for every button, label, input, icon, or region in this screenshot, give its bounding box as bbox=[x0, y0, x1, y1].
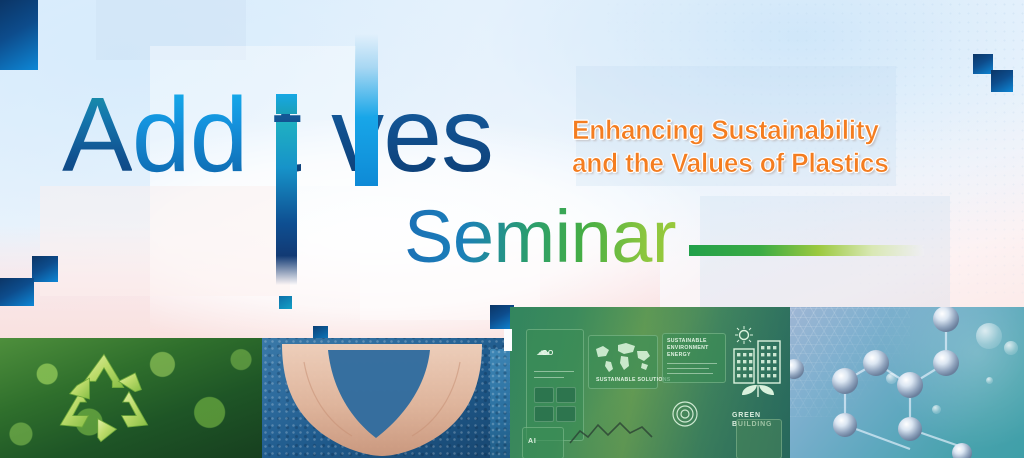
tech-label-ai: AI bbox=[528, 437, 537, 446]
photo-green-tech-infographic: ☁ CO SUSTAINABLE SOLUTIONS SUSTAINABLE E… bbox=[510, 307, 790, 458]
deco-square-left-lower bbox=[0, 278, 34, 306]
banner-tagline: Enhancing Sustainability and the Values … bbox=[572, 114, 972, 181]
recycling-symbol-icon bbox=[52, 350, 156, 448]
tagline-line-1: Enhancing Sustainability bbox=[572, 114, 972, 147]
bokeh-light-4 bbox=[932, 405, 941, 414]
tech-chip-globe bbox=[534, 406, 554, 422]
seminar-underline-bar bbox=[689, 245, 924, 256]
deco-square-top-left bbox=[0, 0, 38, 70]
bokeh-light-2 bbox=[1004, 341, 1018, 355]
deco-square-tiny-teal bbox=[279, 296, 292, 309]
photo-hands-pellets bbox=[262, 338, 510, 458]
tech-line-2 bbox=[534, 377, 564, 378]
hands-holding-pellets-illustration bbox=[276, 344, 488, 458]
bokeh-light-1 bbox=[976, 323, 1002, 349]
leaf-shapes bbox=[742, 385, 774, 397]
photo-molecular-structure bbox=[790, 307, 1024, 458]
tech-chip-leaf bbox=[534, 387, 554, 403]
tech-line-5 bbox=[667, 373, 713, 374]
tech-label-sustainable-energy: SUSTAINABLE ENVIRONMENT ENERGY bbox=[667, 338, 709, 359]
deco-square-left-upper bbox=[32, 256, 58, 282]
tech-card-device bbox=[736, 419, 782, 458]
banner-subtitle-seminar: Seminar bbox=[404, 200, 676, 274]
title-i-dot-glyph bbox=[276, 94, 297, 114]
title-letter-a: A bbox=[62, 76, 132, 194]
photo-divider-nick bbox=[504, 329, 512, 351]
green-building-icon bbox=[726, 325, 790, 407]
title-letter-dd: dd bbox=[132, 76, 248, 194]
tech-line-4 bbox=[667, 368, 709, 369]
tech-chip-drop bbox=[556, 387, 576, 403]
tagline-line-2: and the Values of Plastics bbox=[572, 147, 972, 180]
tech-label-co2: CO bbox=[542, 349, 554, 358]
photo-sliver-pellets bbox=[490, 349, 512, 458]
tech-line-1 bbox=[534, 371, 574, 372]
bokeh-light-3 bbox=[886, 373, 897, 384]
title-i-stem-glyph bbox=[276, 122, 297, 285]
additives-seminar-banner: Addtves Seminar Enhancing Sustainability… bbox=[0, 0, 1024, 458]
deco-square-top-right-b bbox=[991, 70, 1013, 92]
tech-label-map-caption: SUSTAINABLE SOLUTIONS bbox=[596, 377, 671, 384]
deco-square-top-right-a bbox=[973, 54, 993, 74]
photo-recycling-leaves bbox=[0, 338, 262, 458]
deco-panel-5 bbox=[700, 196, 950, 316]
title-i-bar-glyph bbox=[355, 34, 378, 186]
bokeh-light-5 bbox=[986, 377, 993, 384]
line-chart-graphic bbox=[568, 419, 654, 449]
world-map-icon bbox=[592, 339, 652, 373]
tech-line-3 bbox=[667, 363, 717, 364]
fingerprint-target-icon bbox=[670, 399, 700, 429]
deco-panel-4 bbox=[40, 186, 290, 296]
sliver-texture bbox=[490, 349, 512, 458]
